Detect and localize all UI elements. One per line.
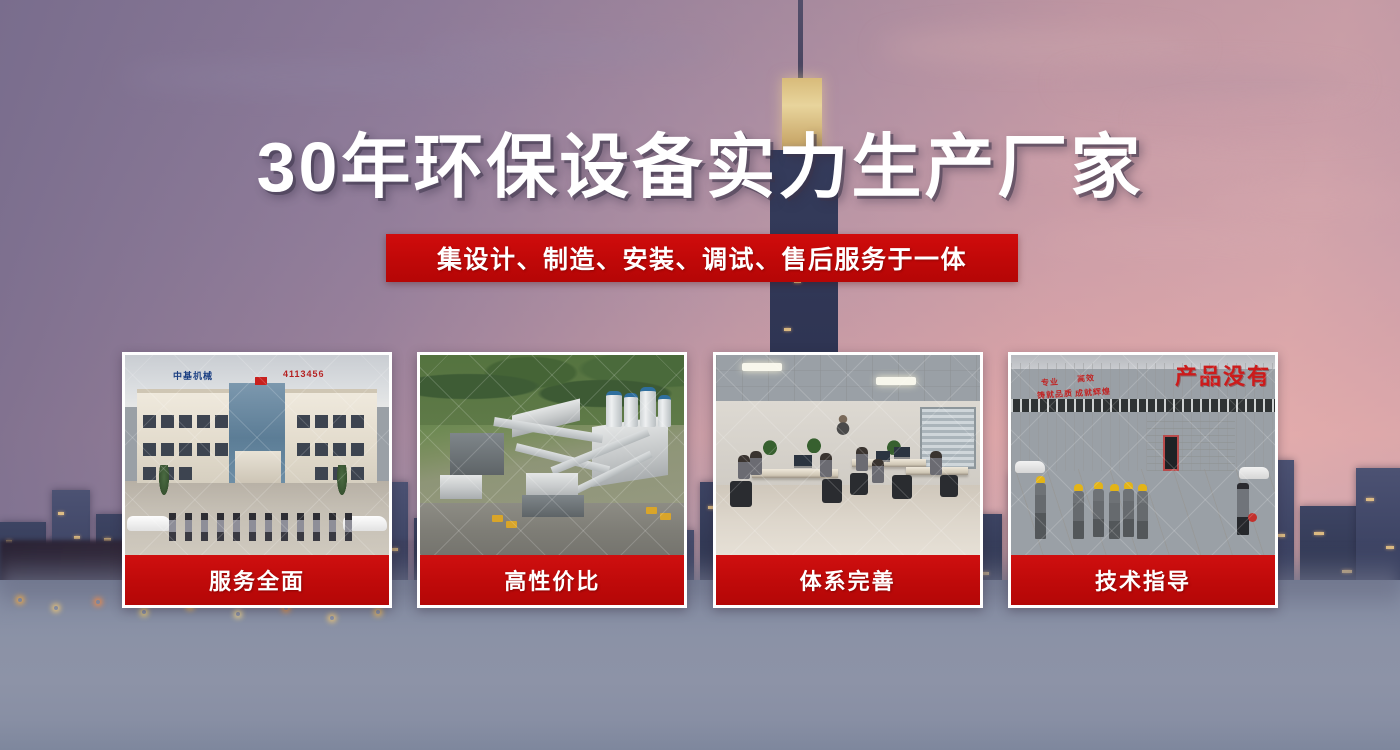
feature-card-label-text: 技术指导 (1095, 564, 1191, 596)
feature-card-list: 中基机械 4113456 (122, 352, 1278, 608)
watermark-overlay (1011, 355, 1275, 555)
cloud (420, 40, 720, 62)
page-title: 30年环保设备实力生产厂家 (0, 128, 1400, 206)
feature-card-label: 技术指导 (1011, 555, 1275, 605)
office-interior-photo (716, 355, 980, 555)
subtitle-banner: 集设计、制造、安装、调试、售后服务于一体 (386, 234, 1018, 282)
watermark-overlay (125, 355, 389, 555)
tower-spire (798, 0, 803, 84)
cloud (1020, 230, 1320, 248)
feature-card[interactable]: 产品没有 专业 高效 铸就品质 成就辉煌 (1008, 352, 1278, 608)
feature-card[interactable]: 高性价比 (417, 352, 687, 608)
watermark-overlay (420, 355, 684, 555)
feature-card-label: 高性价比 (420, 555, 684, 605)
subtitle-text: 集设计、制造、安装、调试、售后服务于一体 (437, 240, 967, 276)
cloud (880, 30, 1200, 64)
workshop-team-photo: 产品没有 专业 高效 铸就品质 成就辉煌 (1011, 355, 1275, 555)
feature-card[interactable]: 中基机械 4113456 (122, 352, 392, 608)
feature-card-label-text: 高性价比 (504, 564, 600, 596)
feature-card-label-text: 体系完善 (800, 564, 896, 596)
cloud (120, 64, 540, 90)
company-headquarters-photo: 中基机械 4113456 (125, 355, 389, 555)
feature-card-label: 服务全面 (125, 555, 389, 605)
feature-card[interactable]: 体系完善 (713, 352, 983, 608)
feature-card-label-text: 服务全面 (209, 564, 305, 596)
feature-card-label: 体系完善 (716, 555, 980, 605)
production-plant-aerial-photo (420, 355, 684, 555)
promo-banner: 30年环保设备实力生产厂家 集设计、制造、安装、调试、售后服务于一体 (0, 0, 1400, 750)
watermark-overlay (716, 355, 980, 555)
cloud (1060, 68, 1360, 98)
